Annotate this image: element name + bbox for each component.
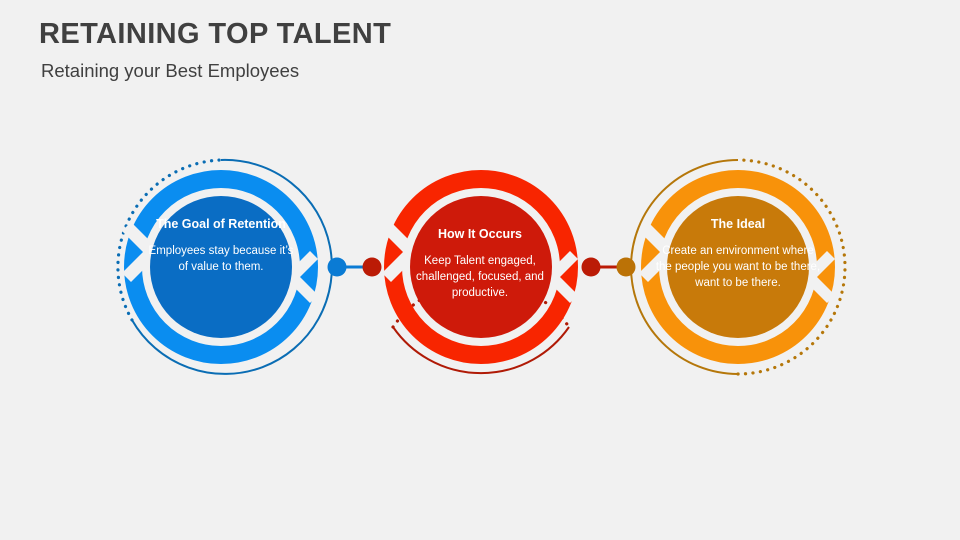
node-how-it-occurs[interactable] (382, 179, 578, 373)
node1-inner-disc (150, 196, 292, 338)
red-connector-dot-right (582, 258, 601, 277)
node2-inner-disc (410, 196, 552, 338)
blue-connector-dot (328, 258, 347, 277)
node-the-ideal[interactable] (631, 160, 845, 374)
process-diagram (0, 0, 960, 540)
red-connector-dot-left (363, 258, 382, 277)
node3-inner-disc (667, 196, 809, 338)
node-goal-of-retention[interactable] (118, 160, 332, 374)
orange-connector-dot (617, 258, 636, 277)
slide-canvas: RETAINING TOP TALENT Retaining your Best… (0, 0, 960, 540)
